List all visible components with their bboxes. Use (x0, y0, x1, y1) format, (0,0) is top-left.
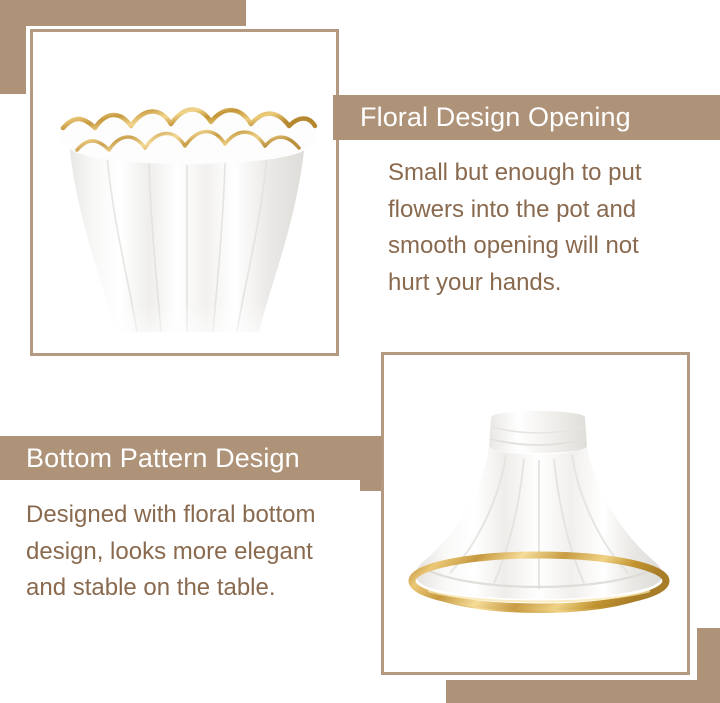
accent-block-bottom-right-vertical (697, 628, 720, 703)
vase-base-image (384, 355, 687, 672)
panel-opening-photo (30, 29, 339, 356)
panel-base-photo (381, 352, 690, 675)
feature-description-line: flowers into the pot and (388, 192, 698, 229)
feature-description-line: and stable on the table. (26, 570, 366, 607)
accent-block-top-bar (0, 0, 246, 26)
feature-description-line: Designed with floral bottom (26, 497, 366, 534)
feature-description-line: design, looks more elegant (26, 534, 366, 571)
product-feature-infographic: Floral Design Opening Small but enough t… (0, 0, 720, 703)
vase-opening-image (33, 32, 336, 353)
feature-description-base: Designed with floral bottom design, look… (26, 497, 366, 607)
accent-block-top-left-vertical (0, 0, 26, 94)
feature-description-line: Small but enough to put (388, 155, 698, 192)
feature-title-ribbon-base: Bottom Pattern Design (0, 436, 382, 480)
feature-title-base: Bottom Pattern Design (26, 445, 300, 472)
feature-title-ribbon-opening: Floral Design Opening (333, 95, 720, 140)
feature-title-opening: Floral Design Opening (360, 104, 631, 131)
feature-description-line: smooth opening will not (388, 228, 698, 265)
feature-description-line: hurt your hands. (388, 265, 698, 302)
accent-block-bottom-bar (446, 680, 720, 703)
feature-description-opening: Small but enough to put flowers into the… (388, 155, 698, 302)
